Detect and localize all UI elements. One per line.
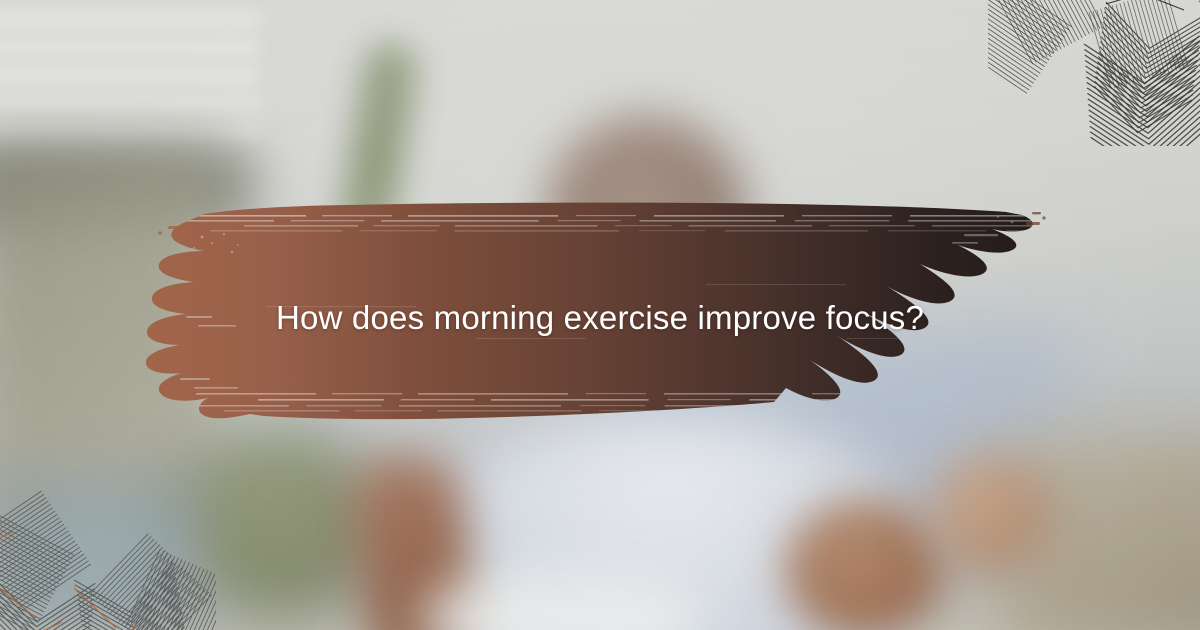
page-title: How does morning exercise improve focus? [276,297,924,338]
headline-container: How does morning exercise improve focus? [0,0,1200,630]
